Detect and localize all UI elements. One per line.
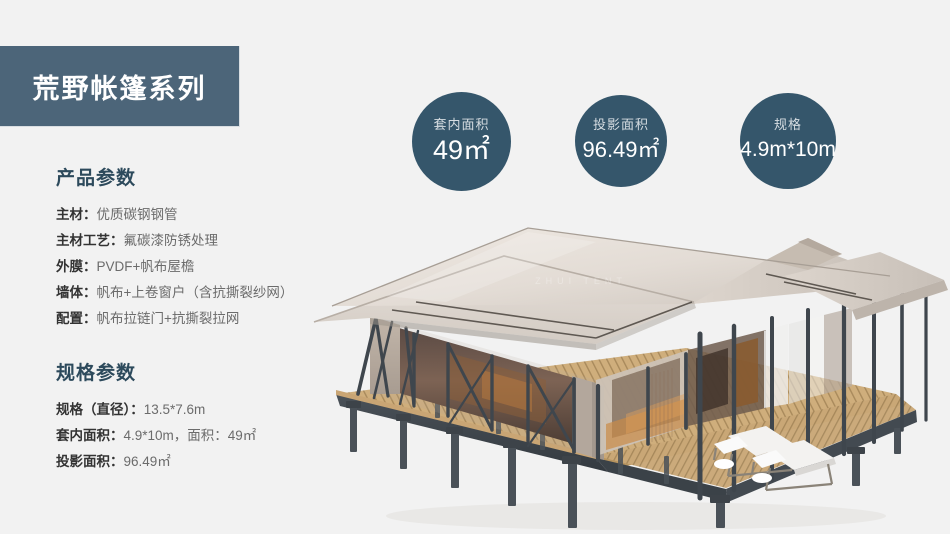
- badge-dimensions[interactable]: 规格 4.9m*10m: [740, 93, 836, 189]
- product-params-heading: 产品参数: [56, 163, 356, 190]
- spec-value: PVDF+帆布屋檐: [97, 259, 195, 274]
- spec-key: 配置：: [56, 311, 97, 326]
- spec-value: 帆布+上卷窗户（含抗撕裂纱网）: [97, 285, 294, 300]
- spec-key: 外膜：: [56, 259, 97, 274]
- spec-key: 规格（直径）：: [56, 402, 144, 417]
- badge-projected-area[interactable]: 投影面积 96.49㎡: [575, 95, 667, 187]
- spec-value: 氟碳漆防锈处理: [124, 233, 219, 248]
- spec-key: 投影面积：: [56, 454, 124, 469]
- spec-value: 优质碳钢钢管: [97, 207, 178, 222]
- badge-label: 投影面积: [593, 117, 649, 133]
- badge-label: 规格: [774, 117, 802, 133]
- badge-value: 49㎡: [433, 134, 490, 166]
- spec-value: 13.5*7.6m: [144, 402, 206, 417]
- badge-indoor-area[interactable]: 套内面积 49㎡: [412, 92, 511, 191]
- spec-key: 主材工艺：: [56, 233, 124, 248]
- spec-value: 帆布拉链门+抗撕裂拉网: [97, 311, 240, 326]
- tent-render-image: ZHUI TENT: [296, 198, 950, 534]
- badge-value: 4.9m*10m: [740, 134, 836, 166]
- spec-key: 套内面积：: [56, 428, 124, 443]
- spec-value: 4.9*10m，面积：49㎡: [124, 428, 257, 443]
- badge-value: 96.49㎡: [582, 134, 659, 166]
- page-title: 荒野帐篷系列: [33, 67, 207, 106]
- spec-key: 墙体：: [56, 285, 97, 300]
- badge-label: 套内面积: [433, 117, 489, 133]
- spec-key: 主材：: [56, 207, 97, 222]
- title-banner: 荒野帐篷系列: [0, 46, 240, 127]
- spec-value: 96.49㎡: [124, 454, 171, 469]
